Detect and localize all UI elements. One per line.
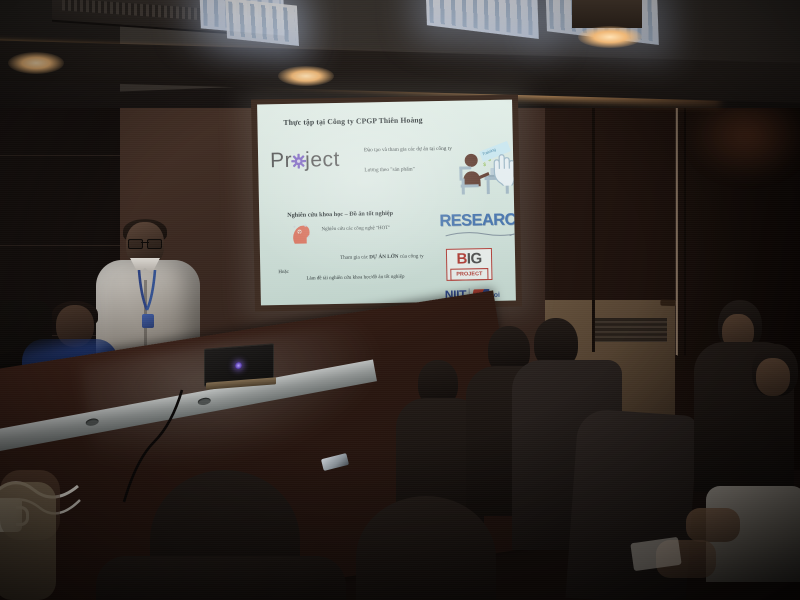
bp-l1-pre: Tham gia các [340,254,369,261]
audience-sleeve-foreground [0,482,56,600]
slide-content: Thực tập tại Công ty CPGP Thiên Hoàng Pr… [257,100,516,306]
audience-hand [686,508,740,542]
big-project-logo: BIG PROJECT [446,248,493,281]
big-logo-ig: IG [467,251,482,266]
pendant-light-housing [572,0,642,28]
glasses-icon [128,239,162,247]
wall-vent [595,318,667,342]
bp-l1-bold: DỰ ÁN LỚN [369,254,398,261]
svg-text:$: $ [483,162,486,168]
downlight-mid [278,66,334,86]
projection-screen: Thực tập tại Công ty CPGP Thiên Hoàng Pr… [251,94,522,311]
project-text-before: Pr [270,149,292,172]
laptop-on-table[interactable] [204,346,276,392]
person-at-desk-icon: $ $ Training [454,148,513,197]
gear-icon [291,154,306,169]
big-logo-caption: PROJECT [450,268,488,281]
big-logo-b: B [456,251,467,266]
audience-face [756,358,790,396]
audience-body-foreground [96,556,346,600]
research-wordmark: RESEARCH [439,211,516,229]
bigproject-section: Tham gia các DỰ ÁN LỚN của công ty Hoặc … [278,251,516,282]
hand-pointer-icon [488,152,515,186]
table-grommet-2 [197,397,211,406]
laptop-logo-icon [235,362,242,370]
downlight-left [8,52,64,74]
project-wordmark: Prject [270,149,340,171]
door-handle-icon[interactable] [660,300,675,307]
id-badge [142,314,154,328]
ceiling [0,0,800,108]
thinking-head-icon: ? [291,223,310,244]
table-grommet-1 [85,418,99,427]
project-text-after: ject [305,148,340,172]
research-section: Nghiên cứu khoa học – Đồ án tốt nghiệp ?… [287,208,515,233]
ceiling-light-panel-2 [225,0,299,46]
slide-title: Thực tập tại Công ty CPGP Thiên Hoàng [283,115,422,127]
lanyard-icon [136,270,158,316]
research-underline-swoosh [444,229,516,239]
svg-text:?: ? [298,230,301,236]
downlight-right-spot [578,26,642,48]
presentation-room-photo: Thực tập tại Công ty CPGP Thiên Hoàng Pr… [0,0,800,600]
bp-l1-post: của công ty [398,253,423,259]
